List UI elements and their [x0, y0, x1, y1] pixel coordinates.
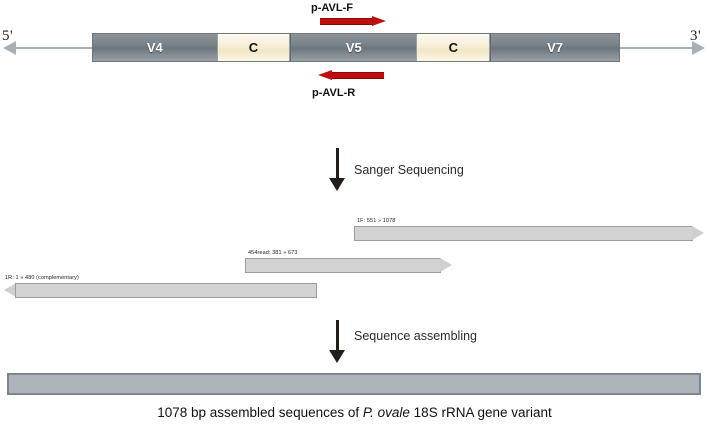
read-bar-454read-arrowhead-right-icon [440, 258, 452, 272]
gene-segment-c-first: C [217, 34, 291, 61]
gene-body: V4 C V5 C V7 [92, 33, 620, 62]
primer-reverse-head [318, 70, 332, 80]
figure-caption: 1078 bp assembled sequences of P. ovale … [0, 405, 709, 420]
caption-prefix: 1078 bp assembled sequences of [157, 405, 363, 420]
read-label-454read: 454read: 381 » 673 [248, 250, 298, 256]
gene-segment-c-second: C [416, 34, 490, 61]
primer-forward-arrow-icon [320, 16, 386, 27]
primer-forward-label: p-AVL-F [311, 2, 353, 14]
read-bar-1r-body [15, 283, 317, 298]
read-bar-1f-body [354, 226, 693, 241]
primer-forward-shaft [320, 18, 372, 25]
primer-reverse-shaft [332, 72, 384, 79]
primer-forward-head [372, 16, 386, 26]
gene-segment-v7: V7 [490, 34, 619, 61]
gene-schematic: 5' 3' V4 C V5 C V7 p-AVL-F p-AVL-R [0, 0, 709, 110]
flanking-arrowhead-left-icon [3, 41, 16, 55]
gene-segment-v5: V5 [290, 34, 416, 61]
read-label-1r: 1R: 1 » 480 (complementary) [5, 275, 79, 281]
flanking-line-right [620, 47, 692, 49]
primer-reverse-arrow-icon [318, 70, 384, 81]
flanking-arrowhead-right-icon [692, 41, 705, 55]
read-label-1f: 1F: 551 » 1078 [357, 218, 395, 224]
flanking-line-left [16, 47, 92, 49]
read-bar-1f-arrowhead-right-icon [692, 226, 704, 240]
step-arrow-shaft [336, 148, 339, 180]
step-arrow-shaft [336, 320, 339, 352]
gene-segment-v4: V4 [93, 34, 217, 61]
read-bar-1f [354, 226, 704, 241]
caption-species-italic: P. ovale [363, 405, 410, 420]
assembled-sequence-bar [7, 373, 701, 395]
step-arrow-head [329, 178, 345, 191]
read-bar-454read [245, 258, 452, 273]
step-caption-assembling: Sequence assembling [354, 329, 477, 343]
step-arrow-head [329, 350, 345, 363]
primer-reverse-label: p-AVL-R [312, 87, 355, 99]
read-bar-454read-body [245, 258, 441, 273]
caption-suffix: 18S rRNA gene variant [410, 405, 552, 420]
step-caption-sanger: Sanger Sequencing [354, 163, 464, 177]
read-bar-1r [4, 283, 317, 298]
